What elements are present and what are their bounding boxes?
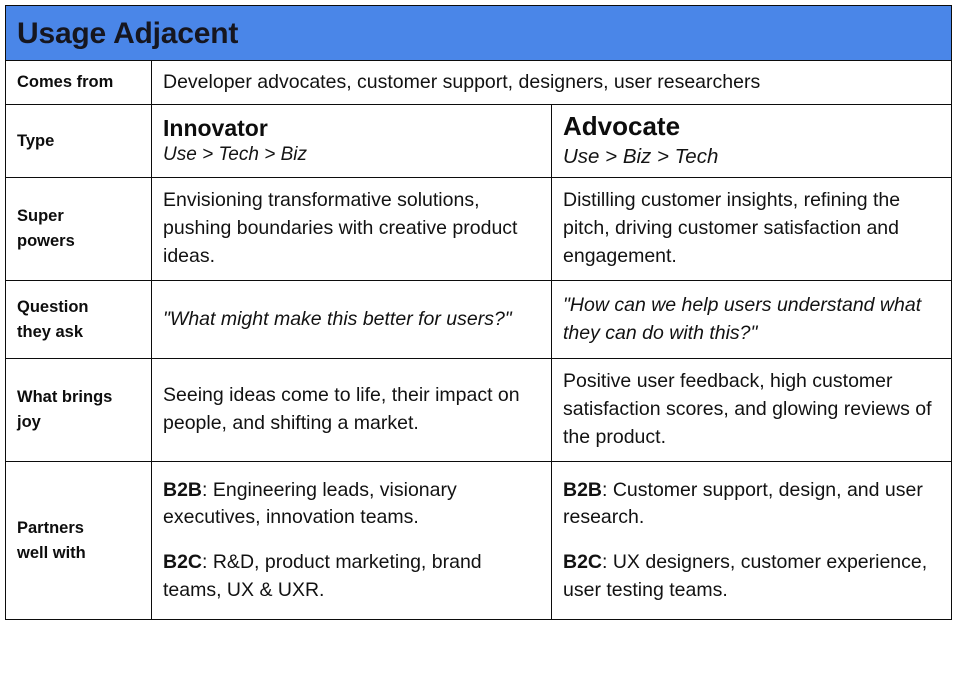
persona-comparison-table: Usage Adjacent Comes from Developer advo… — [5, 5, 952, 620]
question-innovator: "What might make this better for users?" — [152, 281, 552, 359]
row-label-partners: Partners well with — [6, 462, 152, 620]
partners-advocate-b2b-label: B2B — [563, 479, 602, 501]
question-innovator-text: "What might make this better for users?" — [163, 308, 512, 330]
comes-from-value: Developer advocates, customer support, d… — [152, 61, 952, 105]
partners-innovator-b2b: B2B: Engineering leads, visionary execut… — [163, 477, 541, 532]
usage-adjacent-board: Usage Adjacent Comes from Developer advo… — [0, 0, 960, 676]
table-row-type: Type Innovator Use > Tech > Biz Advocate… — [6, 105, 952, 178]
joy-advocate: Positive user feedback, high customer sa… — [552, 359, 952, 462]
row-label-super-powers-line2: powers — [17, 232, 75, 250]
super-powers-advocate: Distilling customer insights, refining t… — [552, 178, 952, 281]
title-cell: Usage Adjacent — [6, 6, 952, 61]
row-label-question-line2: they ask — [17, 323, 83, 341]
row-label-type: Type — [6, 105, 152, 178]
table-title-row: Usage Adjacent — [6, 6, 952, 61]
row-label-question: Question they ask — [6, 281, 152, 359]
partners-innovator: B2B: Engineering leads, visionary execut… — [152, 462, 552, 620]
type-cell-advocate: Advocate Use > Biz > Tech — [552, 105, 952, 178]
table-row-joy: What brings joy Seeing ideas come to lif… — [6, 359, 952, 462]
row-label-joy: What brings joy — [6, 359, 152, 462]
type-order-innovator: Use > Tech > Biz — [163, 143, 541, 168]
partners-advocate-b2c-value: : UX designers, customer experience, use… — [563, 551, 927, 601]
table-row-question: Question they ask "What might make this … — [6, 281, 952, 359]
question-advocate: "How can we help users understand what t… — [552, 281, 952, 359]
partners-innovator-b2c-label: B2C — [163, 551, 202, 573]
type-name-advocate: Advocate — [563, 111, 941, 143]
type-cell-innovator: Innovator Use > Tech > Biz — [152, 105, 552, 178]
partners-innovator-b2c: B2C: R&D, product marketing, brand teams… — [163, 549, 541, 604]
type-name-innovator: Innovator — [163, 114, 541, 142]
joy-innovator: Seeing ideas come to life, their impact … — [152, 359, 552, 462]
table-row-comes-from: Comes from Developer advocates, customer… — [6, 61, 952, 105]
row-label-comes-from: Comes from — [6, 61, 152, 105]
page-title: Usage Adjacent — [17, 17, 941, 50]
type-order-advocate: Use > Biz > Tech — [563, 144, 941, 171]
table-row-super-powers: Super powers Envisioning transformative … — [6, 178, 952, 281]
row-label-super-powers: Super powers — [6, 178, 152, 281]
row-label-question-line1: Question — [17, 298, 89, 316]
super-powers-innovator: Envisioning transformative solutions, pu… — [152, 178, 552, 281]
table-row-partners: Partners well with B2B: Engineering lead… — [6, 462, 952, 620]
row-label-super-powers-line1: Super — [17, 207, 64, 225]
partners-innovator-b2b-value: : Engineering leads, visionary executive… — [163, 479, 457, 529]
partners-advocate: B2B: Customer support, design, and user … — [552, 462, 952, 620]
partners-innovator-b2b-label: B2B — [163, 479, 202, 501]
partners-advocate-b2c-label: B2C — [563, 551, 602, 573]
partners-innovator-b2c-value: : R&D, product marketing, brand teams, U… — [163, 551, 482, 601]
partners-advocate-b2b: B2B: Customer support, design, and user … — [563, 477, 941, 532]
question-advocate-text: "How can we help users understand what t… — [563, 294, 921, 344]
partners-advocate-b2c: B2C: UX designers, customer experience, … — [563, 549, 941, 604]
row-label-partners-line1: Partners — [17, 519, 84, 537]
row-label-joy-line2: joy — [17, 413, 41, 431]
row-label-joy-line1: What brings — [17, 388, 112, 406]
partners-advocate-b2b-value: : Customer support, design, and user res… — [563, 479, 923, 529]
row-label-partners-line2: well with — [17, 544, 86, 562]
